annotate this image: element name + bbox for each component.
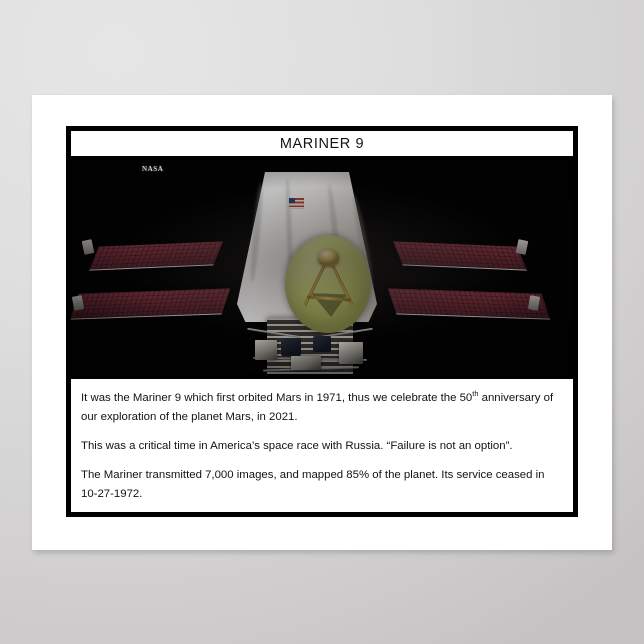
page-title: MARINER 9 — [280, 136, 364, 152]
sensor-pod — [313, 336, 331, 352]
paragraph-3: The Mariner transmitted 7,000 images, an… — [81, 466, 563, 504]
high-gain-dish-antenna — [285, 235, 371, 333]
description-panel: It was the Mariner 9 which first orbited… — [71, 379, 573, 512]
screenshot-stage: MARINER 9 NASA — [0, 0, 644, 644]
spacecraft-photo: NASA — [71, 160, 573, 375]
poster-content-frame: MARINER 9 NASA — [66, 126, 578, 517]
title-band: MARINER 9 — [71, 131, 573, 156]
panel-tip-icon — [82, 239, 95, 255]
panel-tip-icon — [516, 239, 529, 255]
paragraph-2: This was a critical time in America’s sp… — [81, 437, 563, 456]
paragraph-1: It was the Mariner 9 which first orbited… — [81, 389, 563, 427]
solar-panel-upper-right — [393, 241, 527, 270]
poster-sheet: MARINER 9 NASA — [32, 95, 612, 550]
sensor-pod — [281, 338, 301, 356]
solar-panel-lower-left — [71, 288, 230, 319]
solar-panel-lower-right — [388, 288, 550, 319]
solar-panel-upper-left — [89, 241, 223, 270]
nasa-watermark: NASA — [142, 165, 163, 173]
feed-horn — [318, 249, 339, 266]
instrument-box — [255, 340, 277, 360]
paragraph-1-lead: It was the Mariner 9 which first orbited… — [81, 392, 472, 404]
strut — [247, 328, 301, 338]
instrument-box — [339, 342, 363, 364]
instrument-box — [291, 356, 321, 370]
us-flag-patch-icon — [289, 198, 304, 209]
